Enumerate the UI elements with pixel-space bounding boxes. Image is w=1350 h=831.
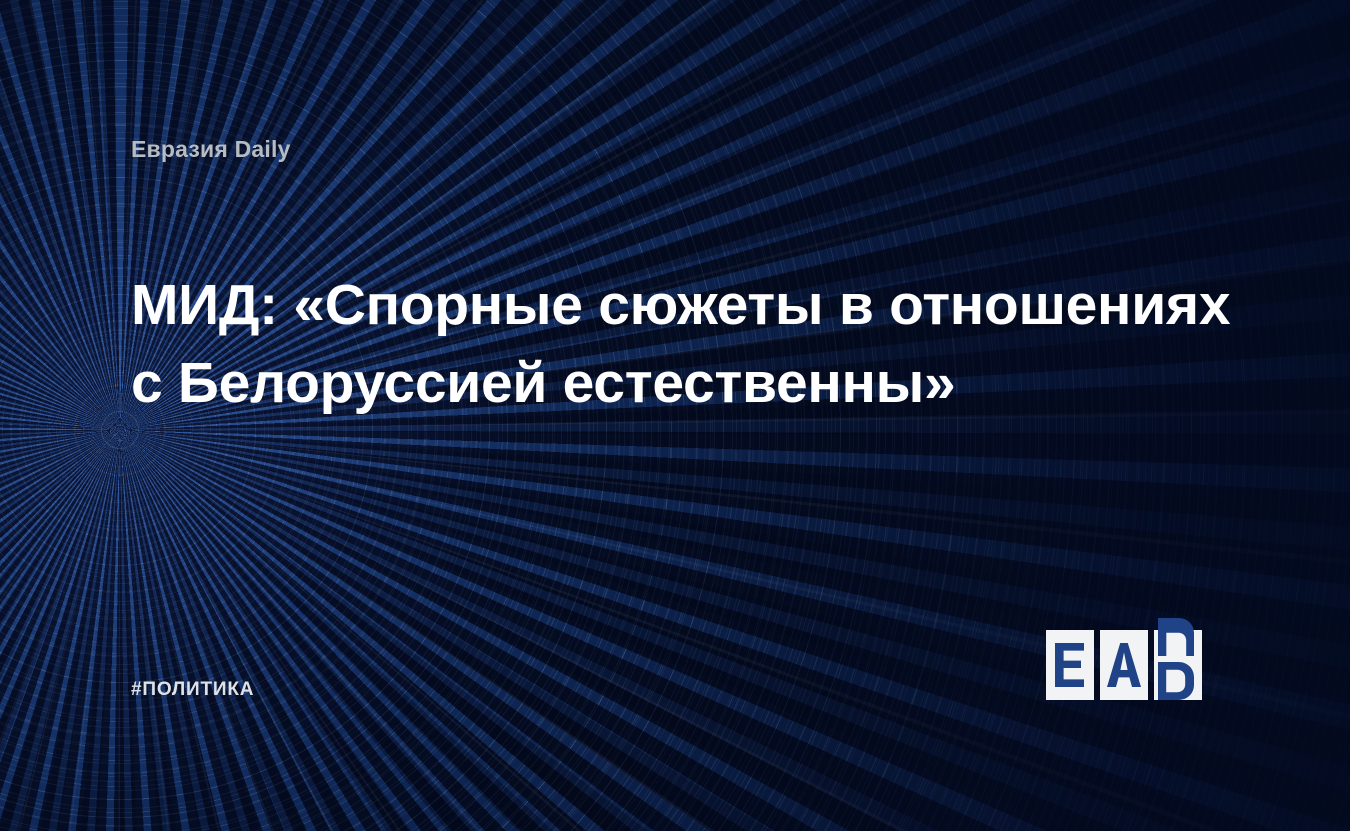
letter-e-icon [1055, 643, 1085, 687]
stacked-d-icon [1158, 618, 1198, 700]
logo-tile-e [1046, 630, 1094, 700]
card-content: Евразия Daily МИД: «Спорные сюжеты в отн… [0, 0, 1350, 831]
site-name: Евразия Daily [131, 136, 291, 163]
news-cover-card: Евразия Daily МИД: «Спорные сюжеты в отн… [0, 0, 1350, 831]
headline-line-1: МИД: «Спорные сюжеты в отношениях [131, 266, 1221, 344]
page-title: МИД: «Спорные сюжеты в отношениях с Бело… [131, 266, 1221, 422]
logo-tile-d [1154, 618, 1202, 700]
logo-tile-a [1100, 630, 1148, 700]
eadaily-logo[interactable] [1046, 630, 1202, 700]
headline-line-2: с Белоруссией естественны» [131, 344, 1221, 422]
category-hashtag[interactable]: #ПОЛИТИКА [131, 679, 254, 701]
letter-a-icon [1107, 643, 1141, 687]
